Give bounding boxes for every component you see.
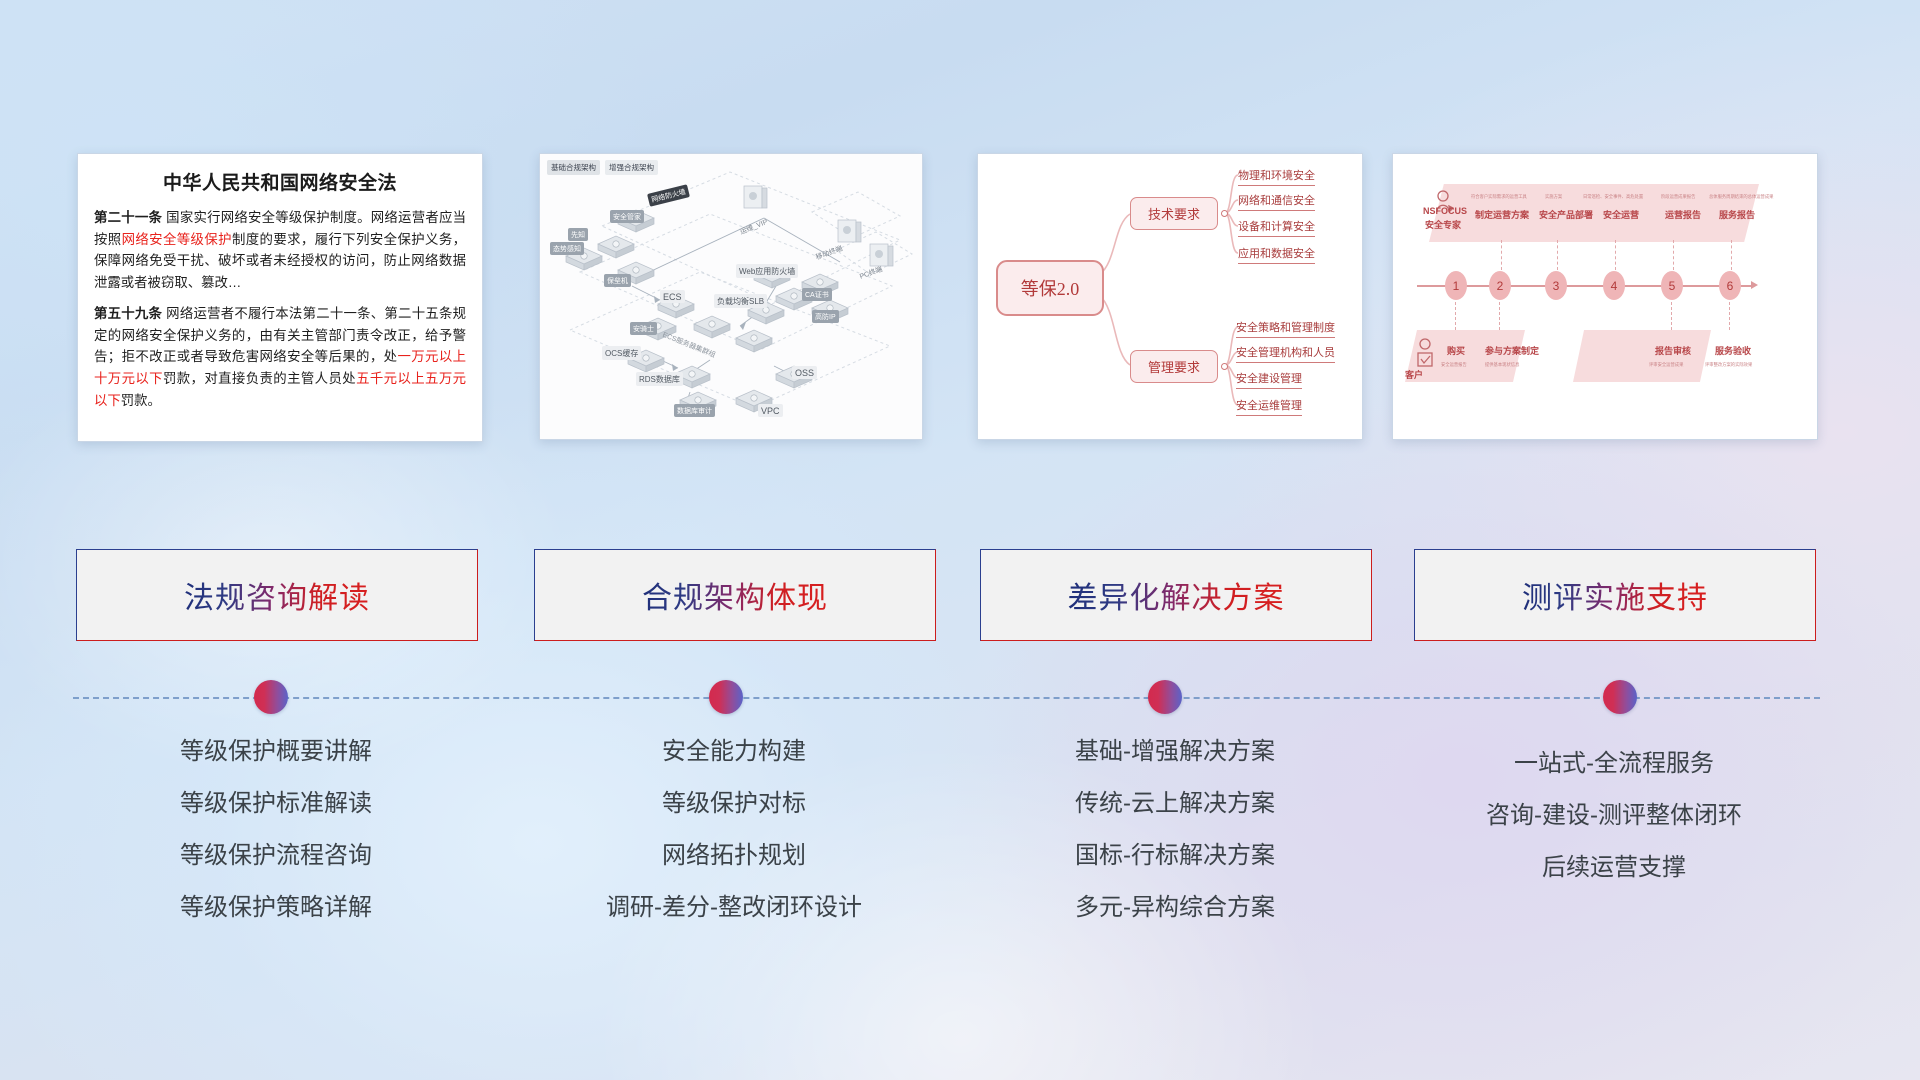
detail-column-1: 等级保护概要讲解 等级保护标准解读 等级保护流程咨询 等级保护策略详解 (76, 740, 476, 948)
section-heading-box-4[interactable]: 测评实施支持 (1414, 549, 1816, 641)
section-heading-box-1[interactable]: 法规咨询解读 (76, 549, 478, 641)
progress-timeline-line (73, 697, 1820, 701)
list-item: 等级保护概要讲解 (76, 740, 476, 764)
detail-column-3: 基础-增强解决方案 传统-云上解决方案 国标-行标解决方案 多元-异构综合方案 (980, 740, 1370, 948)
list-item: 等级保护标准解读 (76, 792, 476, 816)
detail-column-4: 一站式-全流程服务 咨询-建设-测评整体闭环 后续运营支撑 (1414, 752, 1814, 908)
detail-column-2: 安全能力构建 等级保护对标 网络拓扑规划 调研-差分-整改闭环设计 (534, 740, 934, 948)
section-heading-label-2: 合规架构体现 (642, 573, 828, 617)
list-item: 网络拓扑规划 (534, 844, 934, 868)
list-item: 后续运营支撑 (1414, 856, 1814, 880)
list-item: 多元-异构综合方案 (980, 896, 1370, 920)
timeline-marker-4[interactable] (1603, 680, 1637, 714)
section-heading-label-1: 法规咨询解读 (184, 573, 370, 617)
timeline-marker-3[interactable] (1148, 680, 1182, 714)
section-heading-box-3[interactable]: 差异化解决方案 (980, 549, 1372, 641)
list-item: 等级保护流程咨询 (76, 844, 476, 868)
section-heading-box-2[interactable]: 合规架构体现 (534, 549, 936, 641)
timeline-marker-2[interactable] (709, 680, 743, 714)
list-item: 等级保护对标 (534, 792, 934, 816)
list-item: 一站式-全流程服务 (1414, 752, 1814, 776)
list-item: 等级保护策略详解 (76, 896, 476, 920)
list-item: 基础-增强解决方案 (980, 740, 1370, 764)
list-item: 传统-云上解决方案 (980, 792, 1370, 816)
section-heading-label-4: 测评实施支持 (1522, 573, 1708, 617)
slide-stage: 中华人民共和国网络安全法 第二十一条 国家实行网络安全等级保护制度。网络运营者应… (0, 0, 1920, 1080)
list-item: 调研-差分-整改闭环设计 (534, 896, 934, 920)
timeline-marker-1[interactable] (254, 680, 288, 714)
section-heading-label-3: 差异化解决方案 (1068, 573, 1285, 617)
list-item: 国标-行标解决方案 (980, 844, 1370, 868)
list-item: 安全能力构建 (534, 740, 934, 764)
list-item: 咨询-建设-测评整体闭环 (1414, 804, 1814, 828)
